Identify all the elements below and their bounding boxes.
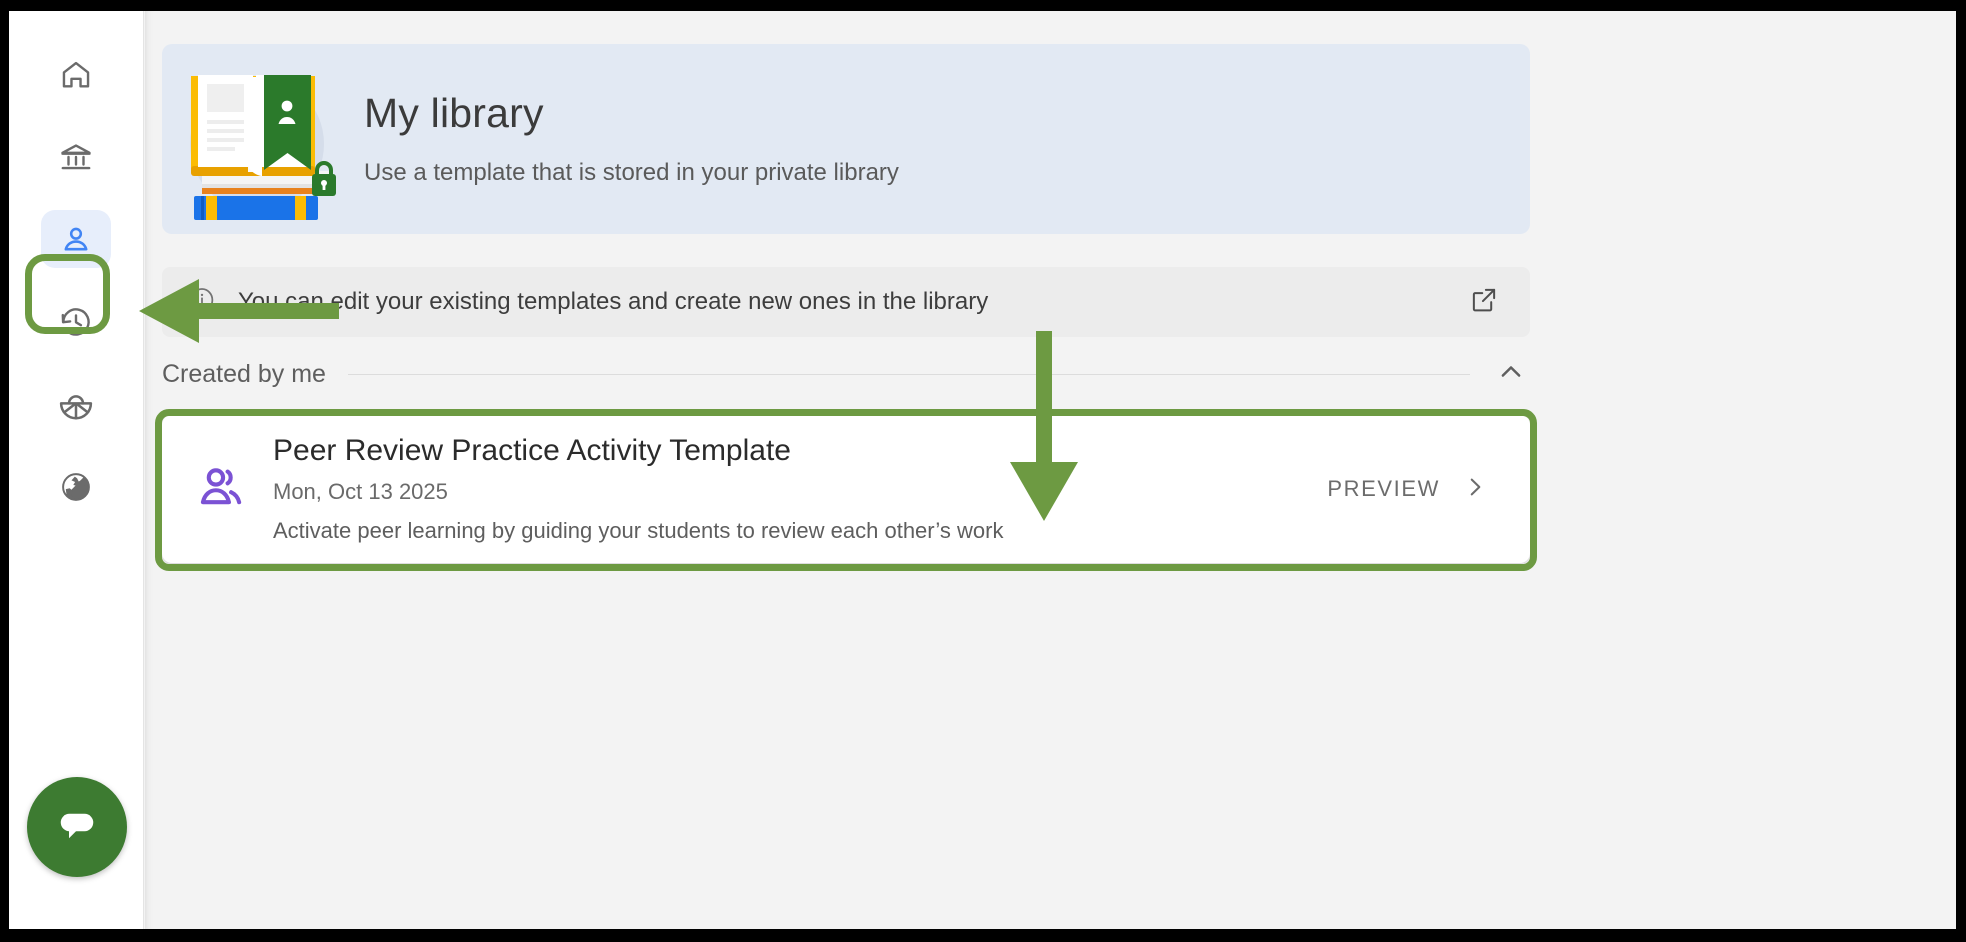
sidebar-item-my-library[interactable] [41,210,111,268]
sidebar-item-home[interactable] [41,46,111,104]
citrus-icon [57,385,95,423]
bank-icon [58,139,94,175]
sidebar-item-history[interactable] [41,293,111,351]
left-navigation-rail [9,11,144,929]
template-date: Mon, Oct 13 2025 [273,479,1003,505]
preview-button[interactable]: PREVIEW [1327,474,1488,505]
people-group-icon [196,461,248,518]
sidebar-item-institution[interactable] [41,128,111,186]
chat-bubble-icon [52,800,102,855]
template-card-body: Peer Review Practice Activity Template M… [273,434,1003,544]
info-circle-icon [187,285,217,320]
info-banner: You can edit your existing templates and… [162,267,1530,337]
template-card[interactable]: Peer Review Practice Activity Template M… [162,415,1530,563]
template-description: Activate peer learning by guiding your s… [273,518,1003,544]
history-icon [58,304,94,340]
created-by-me-section-header: Created by me [162,356,1530,392]
info-banner-text: You can edit your existing templates and… [238,288,988,316]
main-content: My library Use a template that is stored… [145,11,1956,929]
my-library-hero-banner: My library Use a template that is stored… [162,44,1530,234]
template-title: Peer Review Practice Activity Template [273,434,1003,469]
chevron-up-icon[interactable] [1492,353,1530,396]
sidebar-item-explore[interactable] [41,375,111,433]
home-icon [59,58,93,92]
app-viewport: My library Use a template that is stored… [9,11,1956,929]
screenshot-frame: My library Use a template that is stored… [0,0,1966,942]
page-title: My library [364,91,899,136]
books-with-lock-illustration [162,44,352,234]
section-divider [348,374,1470,375]
globe-icon [58,469,94,505]
section-label: Created by me [162,360,326,389]
hero-text-block: My library Use a template that is stored… [352,91,899,186]
preview-label: PREVIEW [1327,476,1440,502]
chevron-right-icon [1462,474,1488,505]
open-in-new-icon[interactable] [1468,284,1500,321]
sidebar-item-community[interactable] [41,458,111,516]
hero-subtitle: Use a template that is stored in your pr… [364,159,899,187]
person-icon [59,222,93,256]
chat-launcher-button[interactable] [27,777,127,877]
